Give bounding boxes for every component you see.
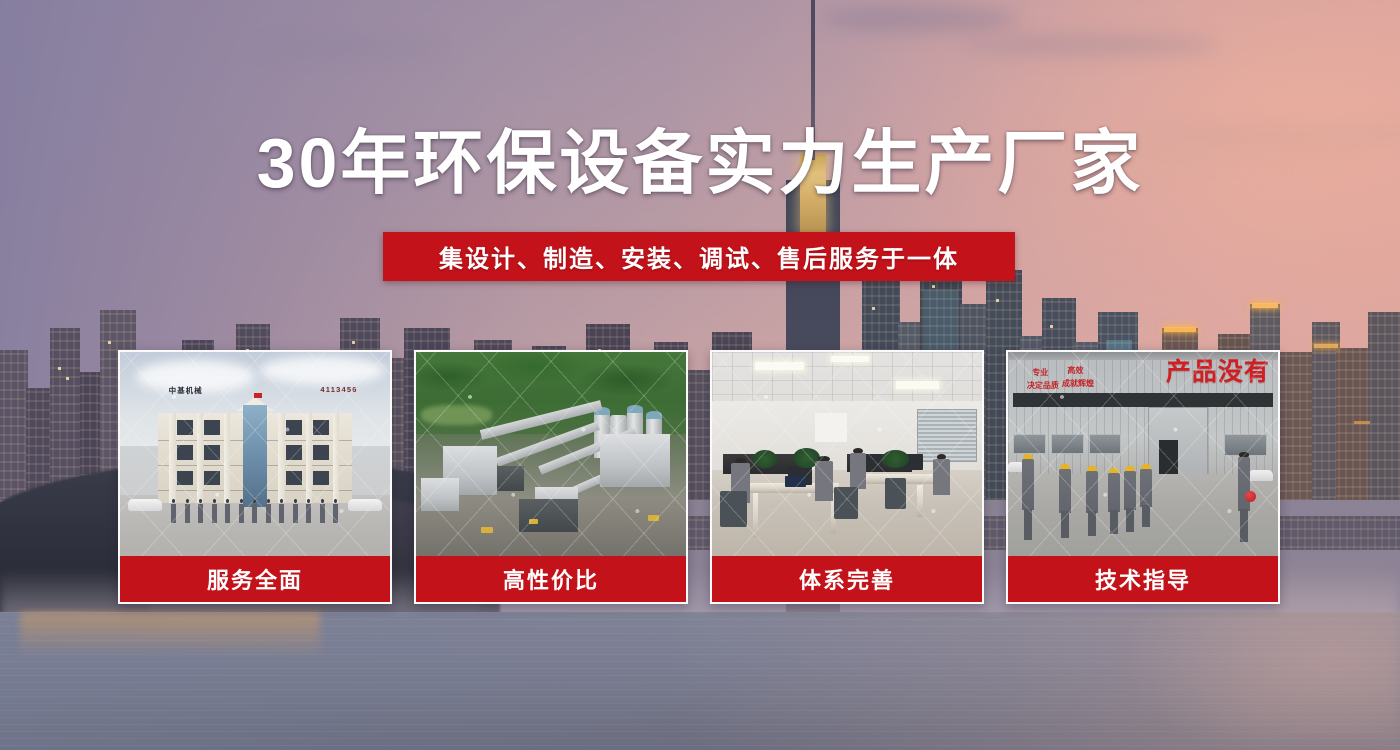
photo-worker bbox=[1108, 468, 1120, 533]
facade-window bbox=[313, 445, 329, 459]
photo-staff-person bbox=[225, 499, 230, 523]
hero-banner: 30年环保设备实力生产厂家 集设计、制造、安装、调试、售后服务于一体 bbox=[0, 0, 1400, 750]
photo-staff-person bbox=[279, 499, 284, 523]
tower-crown-light bbox=[1164, 327, 1196, 332]
water-light-reflection bbox=[20, 612, 320, 658]
facade-window bbox=[286, 420, 302, 434]
photo-factory-entrance bbox=[1159, 440, 1178, 477]
card-photo-industrial-plant bbox=[416, 352, 686, 556]
photo-factory-big-sign: 产品没有 bbox=[1166, 360, 1270, 385]
photo-office-interior bbox=[712, 352, 982, 556]
photo-cloud bbox=[260, 356, 384, 385]
photo-factory-window bbox=[1089, 434, 1121, 454]
photo-worker bbox=[1124, 466, 1136, 531]
photo-staff-person bbox=[306, 499, 311, 523]
facade-window bbox=[204, 445, 220, 459]
subtitle-text: 集设计、制造、安装、调试、售后服务于一体 bbox=[439, 239, 959, 274]
photo-factory-slogan-3: 高效 bbox=[1067, 366, 1083, 376]
facade-column bbox=[169, 413, 175, 503]
feature-card-training[interactable]: 产品没有 专业 决定品质 高效 成就辉煌 bbox=[1006, 350, 1280, 604]
photo-chair bbox=[885, 478, 907, 509]
facade-window bbox=[286, 445, 302, 459]
card-caption: 技术指导 bbox=[1008, 556, 1278, 602]
photo-staff-person bbox=[185, 499, 190, 523]
facade-window bbox=[177, 471, 193, 485]
card-caption: 服务全面 bbox=[120, 556, 390, 602]
photo-employee bbox=[850, 448, 866, 489]
feature-card-service[interactable]: 中基机械 4113456 bbox=[118, 350, 392, 604]
photo-worker bbox=[1086, 466, 1098, 535]
window-light bbox=[932, 285, 935, 288]
photo-office-building: 中基机械 4113456 bbox=[120, 352, 390, 556]
photo-silo-cap bbox=[646, 411, 662, 419]
photo-ceiling-light bbox=[896, 381, 939, 389]
facade-column bbox=[306, 413, 312, 503]
window-light bbox=[66, 377, 69, 380]
photo-worker bbox=[1022, 454, 1034, 540]
facade-column bbox=[278, 413, 284, 503]
photo-potted-plant bbox=[753, 450, 777, 468]
photo-company-sign: 中基机械 bbox=[169, 385, 203, 396]
building bbox=[50, 328, 80, 500]
photo-factory-slogan-4: 成就辉煌 bbox=[1062, 379, 1094, 389]
window-light bbox=[1050, 325, 1053, 328]
building bbox=[1276, 352, 1314, 500]
feature-card-value[interactable]: 高性价比 bbox=[414, 350, 688, 604]
photo-excavator bbox=[529, 519, 538, 524]
photo-staff-person bbox=[239, 499, 244, 523]
photo-desk bbox=[917, 485, 922, 518]
tower-crown-light bbox=[1314, 344, 1338, 348]
card-photo-workers-factory: 产品没有 专业 决定品质 高效 成就辉煌 bbox=[1008, 352, 1278, 556]
window-light bbox=[872, 307, 875, 310]
photo-monitor bbox=[863, 454, 882, 468]
facade-window bbox=[204, 420, 220, 434]
photo-ceiling-light bbox=[831, 356, 869, 362]
photo-plant-building-dark bbox=[519, 499, 578, 532]
building bbox=[0, 350, 28, 500]
photo-excavator bbox=[481, 527, 493, 533]
photo-staff-person bbox=[293, 499, 298, 523]
facade-column bbox=[197, 413, 203, 503]
facade-window bbox=[177, 445, 193, 459]
photo-employee bbox=[933, 454, 949, 495]
feature-card-row: 中基机械 4113456 bbox=[118, 350, 1280, 604]
facade-window bbox=[313, 471, 329, 485]
window-light bbox=[352, 341, 355, 344]
feature-card-system[interactable]: 体系完善 bbox=[710, 350, 984, 604]
photo-workers-factory: 产品没有 专业 决定品质 高效 成就辉煌 bbox=[1008, 352, 1278, 556]
card-caption: 体系完善 bbox=[712, 556, 982, 602]
photo-glass-atrium bbox=[243, 405, 267, 507]
window-light bbox=[58, 367, 61, 370]
facade-window bbox=[177, 420, 193, 434]
tower-crown-light bbox=[1252, 303, 1278, 308]
photo-worker bbox=[1140, 464, 1152, 527]
photo-chair bbox=[834, 487, 858, 520]
card-caption: 高性价比 bbox=[416, 556, 686, 602]
photo-phone-number: 4113456 bbox=[320, 385, 357, 394]
photo-staff-person bbox=[266, 499, 271, 523]
photo-staff-person bbox=[333, 499, 338, 523]
photo-car bbox=[348, 499, 382, 511]
photo-staff-person bbox=[212, 499, 217, 523]
facade-column bbox=[333, 413, 339, 503]
photo-desk bbox=[753, 493, 758, 538]
building-accent-light bbox=[1354, 421, 1370, 424]
photo-car bbox=[1249, 470, 1273, 481]
photo-car bbox=[128, 499, 162, 511]
facade-window bbox=[204, 471, 220, 485]
photo-ceiling-light bbox=[755, 362, 804, 370]
page-title: 30年环保设备实力生产厂家 bbox=[0, 128, 1400, 198]
photo-factory-slogan-1: 专业 bbox=[1032, 368, 1048, 378]
photo-chair bbox=[720, 491, 747, 528]
facade-window bbox=[286, 471, 302, 485]
photo-staff-person bbox=[320, 499, 325, 523]
photo-factory-banner-strip bbox=[1013, 393, 1272, 407]
building bbox=[1368, 312, 1400, 500]
photo-factory-window bbox=[1013, 434, 1045, 454]
photo-plant-shed bbox=[600, 434, 670, 487]
photo-field bbox=[421, 405, 491, 425]
photo-staff-person bbox=[198, 499, 203, 523]
photo-factory-roller-door bbox=[1148, 407, 1207, 476]
card-photo-office-building: 中基机械 4113456 bbox=[120, 352, 390, 556]
subtitle-banner: 集设计、制造、安装、调试、售后服务于一体 bbox=[383, 232, 1015, 281]
photo-silo-cap bbox=[627, 405, 643, 413]
building bbox=[1336, 348, 1370, 500]
facade-column bbox=[224, 413, 230, 503]
window-light bbox=[996, 299, 999, 302]
photo-laptop bbox=[785, 476, 807, 486]
photo-employee bbox=[815, 456, 834, 501]
card-photo-office-interior bbox=[712, 352, 982, 556]
photo-staff-person bbox=[171, 499, 176, 523]
facade-window bbox=[313, 420, 329, 434]
photo-industrial-plant bbox=[416, 352, 686, 556]
photo-factory-window bbox=[1051, 434, 1083, 454]
window-light bbox=[108, 341, 111, 344]
photo-factory-slogan-2: 决定品质 bbox=[1027, 381, 1059, 391]
photo-worker bbox=[1059, 464, 1071, 537]
photo-staff-person bbox=[252, 499, 257, 523]
photo-flag bbox=[254, 393, 262, 398]
photo-excavator bbox=[648, 515, 659, 521]
photo-plant-building-dark bbox=[497, 466, 524, 490]
photo-wall-poster bbox=[815, 413, 847, 442]
photo-plant-shed bbox=[421, 478, 459, 511]
